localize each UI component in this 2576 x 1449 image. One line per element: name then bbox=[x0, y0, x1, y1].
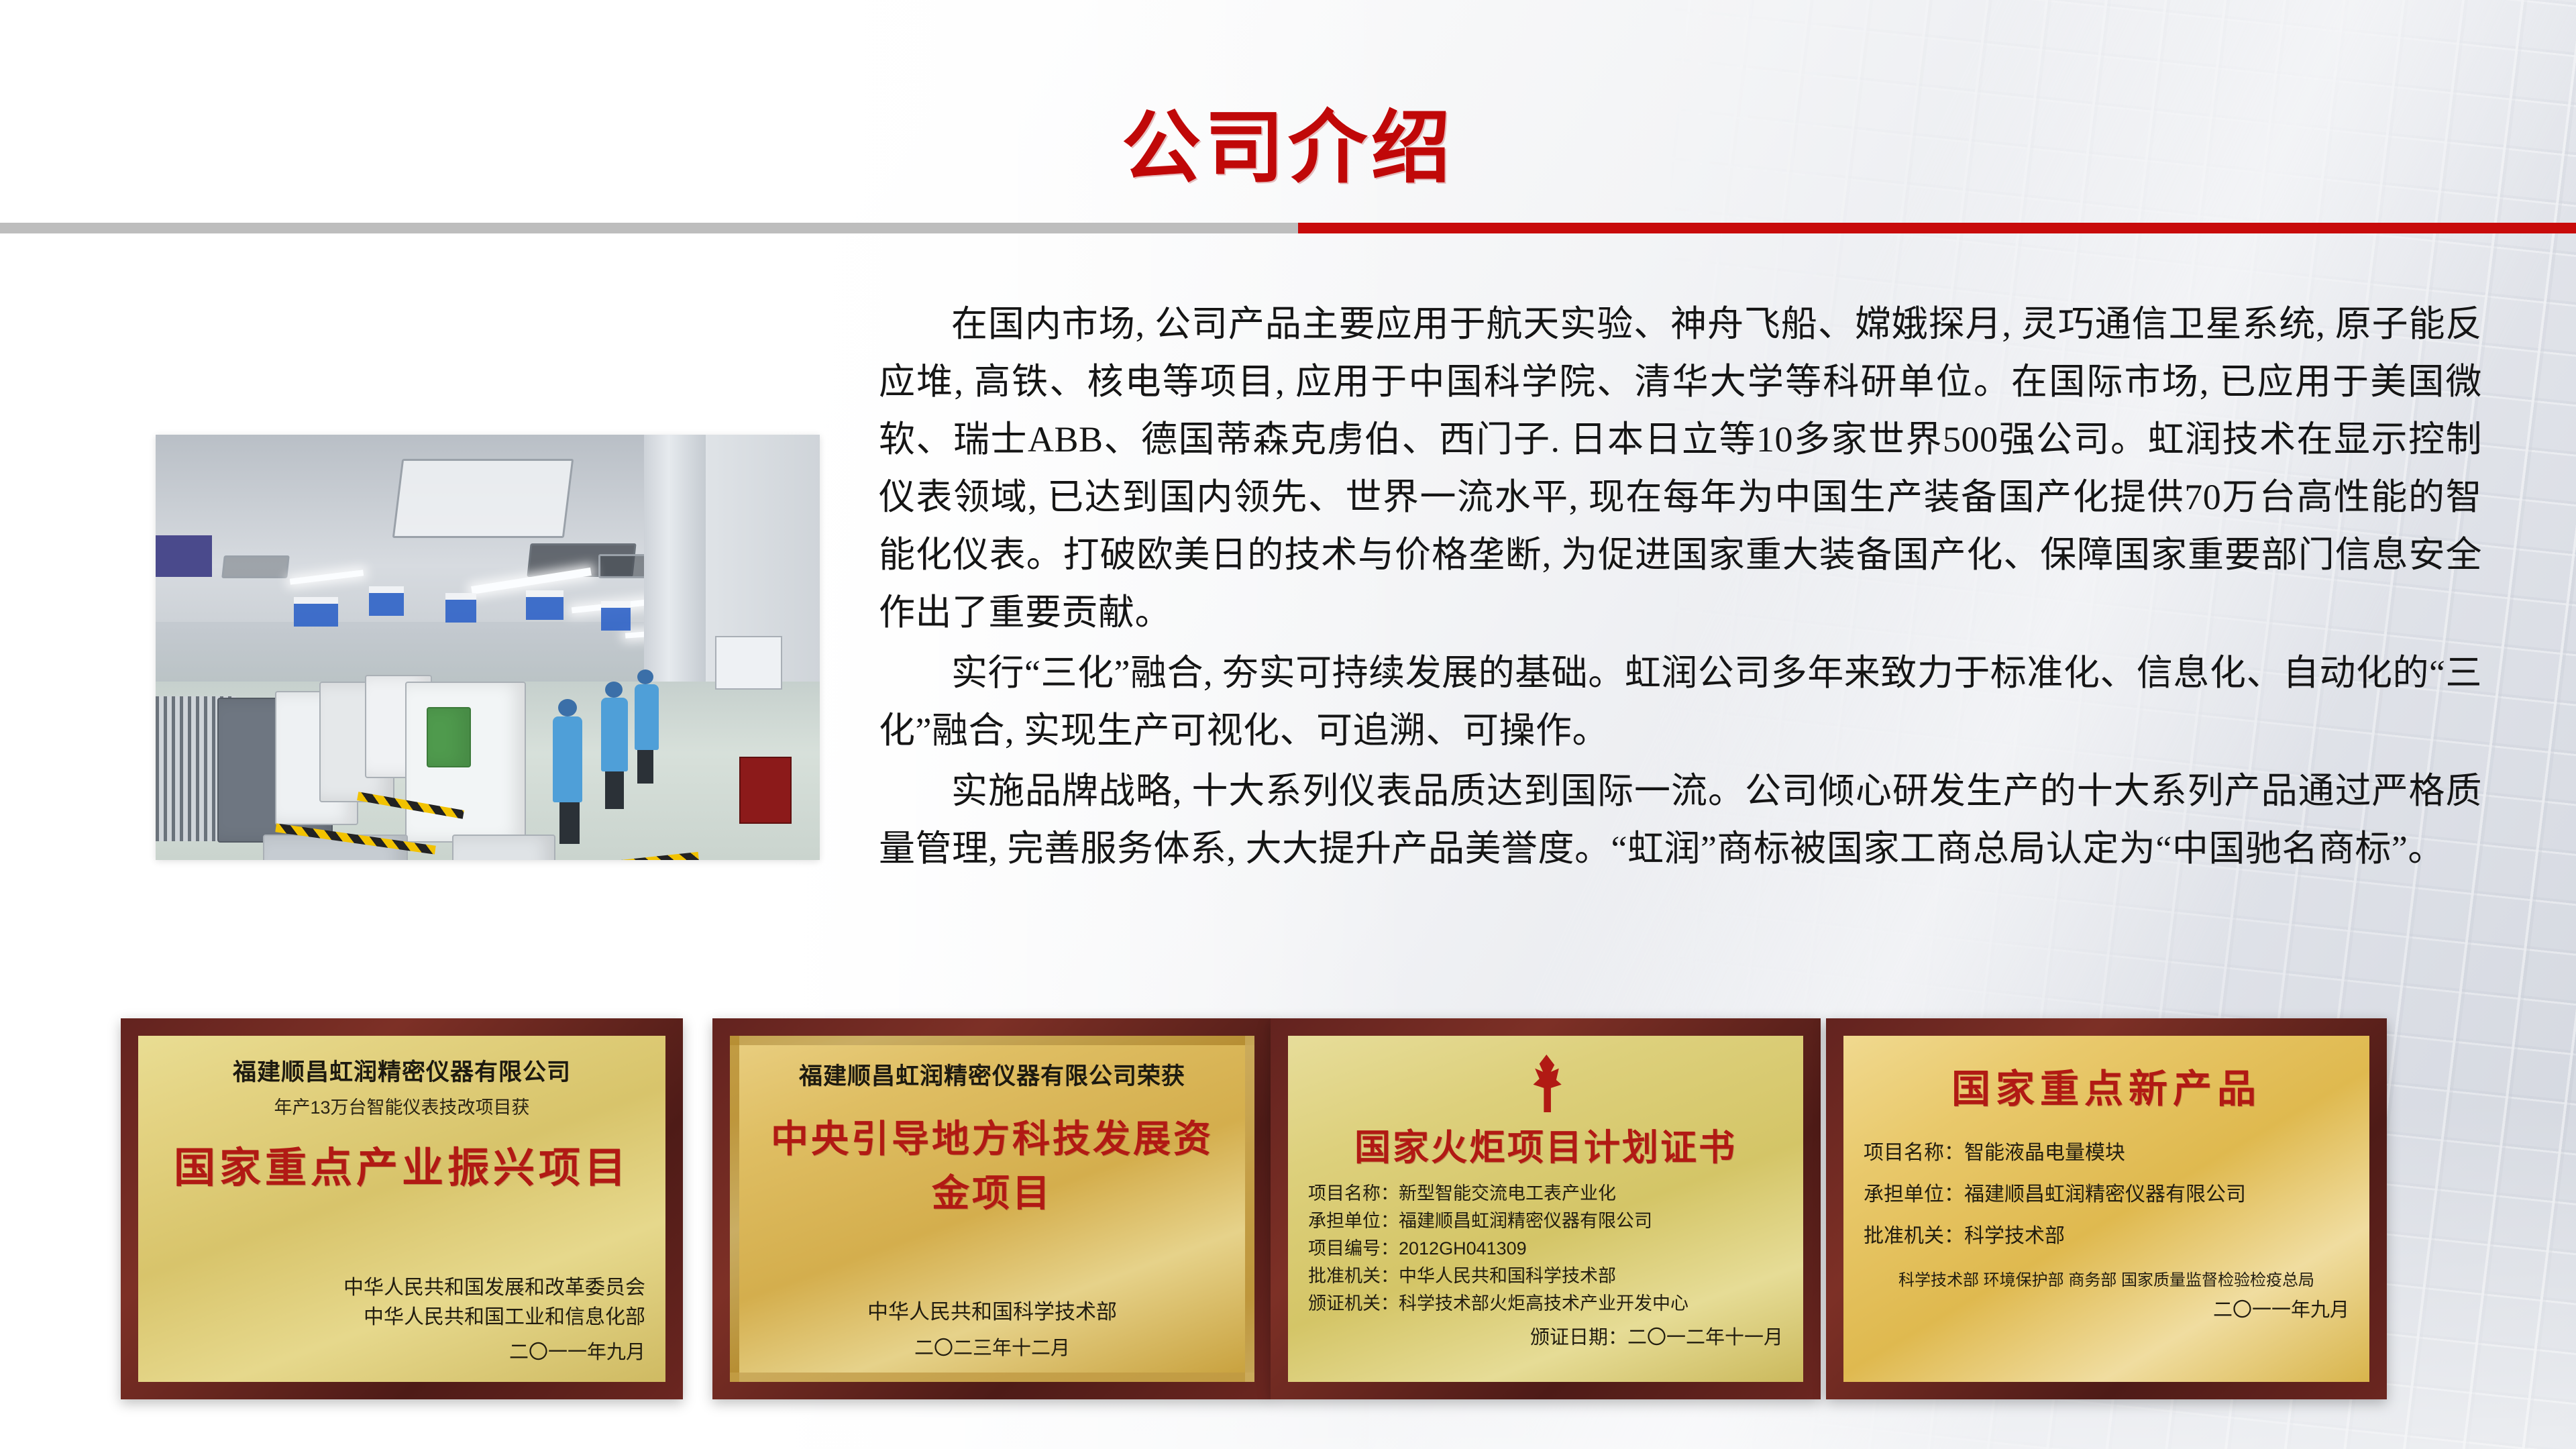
plaque-detail-rows: 项目名称：智能液晶电量模块 承担单位：福建顺昌虹润精密仪器有限公司 批准机关：科… bbox=[1864, 1132, 2349, 1257]
plaque-issuer-line: 中华人民共和国工业和信息化部 bbox=[158, 1303, 645, 1332]
plaque-detail-row: 项目名称：智能液晶电量模块 bbox=[1864, 1132, 2349, 1174]
intro-paragraph-3: 实施品牌战略, 十大系列仪表品质达到国际一流。公司倾心研发生产的十大系列产品通过… bbox=[879, 762, 2482, 877]
photo-worker-cap bbox=[605, 682, 623, 698]
photo-ceiling-filter-panel bbox=[221, 555, 290, 578]
plaque-detail-row: 项目编号：2012GH041309 bbox=[1308, 1235, 1783, 1263]
header-divider-gray-segment bbox=[0, 223, 1298, 233]
plaque-face: 福建顺昌虹润精密仪器有限公司 年产13万台智能仪表技改项目获 国家重点产业振兴项… bbox=[138, 1036, 665, 1382]
plaque-detail-row: 颁证机关：科学技术部火炬高技术产业开发中心 bbox=[1308, 1290, 1783, 1318]
plaque-award-title: 国家重点产业振兴项目 bbox=[158, 1134, 645, 1194]
award-plaque[interactable]: 福建顺昌虹润精密仪器有限公司荣获 中央引导地方科技发展资金项目 中华人民共和国科… bbox=[712, 1018, 1272, 1399]
page-title: 公司介绍 bbox=[0, 83, 2576, 198]
plaque-org: 福建顺昌虹润精密仪器有限公司荣获 bbox=[757, 1057, 1228, 1091]
photo-ceiling-filter-panel bbox=[392, 459, 574, 538]
header-divider bbox=[0, 223, 2576, 233]
plaque-detail-row: 承担单位：福建顺昌虹润精密仪器有限公司 bbox=[1864, 1174, 2349, 1216]
photo-station-sign bbox=[445, 593, 476, 623]
plaque-issuer: 中华人民共和国发展和改革委员会 中华人民共和国工业和信息化部 bbox=[158, 1273, 645, 1332]
photo-station-sign bbox=[294, 597, 338, 627]
photo-worker-legs bbox=[559, 801, 580, 844]
factory-photo bbox=[156, 435, 820, 860]
plaque-subtitle: 年产13万台智能仪表技改项目获 bbox=[158, 1093, 645, 1119]
plaque-award-title: 中央引导地方科技发展资金项目 bbox=[757, 1109, 1228, 1218]
photo-worker-legs bbox=[637, 749, 653, 784]
intro-paragraph-2: 实行“三化”融合, 夯实可持续发展的基础。虹润公司多年来致力于标准化、信息化、自… bbox=[879, 644, 2482, 759]
photo-worker-cap bbox=[637, 669, 653, 684]
torch-icon bbox=[1523, 1055, 1568, 1112]
plaque-org: 福建顺昌虹润精密仪器有限公司 bbox=[158, 1053, 645, 1087]
photo-hanging-banner bbox=[156, 535, 212, 577]
plaque-detail-row: 批准机关：科学技术部 bbox=[1864, 1216, 2349, 1257]
award-plaque-gallery: 福建顺昌虹润精密仪器有限公司 年产13万台智能仪表技改项目获 国家重点产业振兴项… bbox=[0, 1018, 2576, 1407]
plaque-footer-agencies: 科学技术部 环境保护部 商务部 国家质量监督检验检疫总局 bbox=[1864, 1267, 2349, 1290]
photo-station-sign bbox=[601, 601, 631, 631]
photo-worker-cap bbox=[558, 699, 577, 716]
award-plaque[interactable]: 福建顺昌虹润精密仪器有限公司 年产13万台智能仪表技改项目获 国家重点产业振兴项… bbox=[121, 1018, 683, 1399]
plaque-face: 国家火炬项目计划证书 项目名称：新型智能交流电工表产业化 承担单位：福建顺昌虹润… bbox=[1288, 1036, 1803, 1382]
photo-worker bbox=[635, 684, 659, 750]
plaque-detail-row: 项目名称：新型智能交流电工表产业化 bbox=[1308, 1180, 1783, 1207]
plaque-issuer: 中华人民共和国科学技术部 bbox=[757, 1296, 1228, 1328]
plaque-date: 二〇一一年九月 bbox=[1864, 1294, 2349, 1322]
plaque-detail-rows: 项目名称：新型智能交流电工表产业化 承担单位：福建顺昌虹润精密仪器有限公司 项目… bbox=[1308, 1180, 1783, 1318]
header-divider-red-segment bbox=[1298, 223, 2576, 233]
plaque-award-title: 国家重点新产品 bbox=[1864, 1057, 2349, 1114]
photo-red-notice-board bbox=[739, 757, 792, 824]
photo-machine bbox=[452, 835, 555, 860]
plaque-date: 二〇一一年九月 bbox=[158, 1336, 645, 1364]
plaque-date: 颁证日期：二〇一二年十一月 bbox=[1308, 1322, 1783, 1350]
plaque-detail-row: 承担单位：福建顺昌虹润精密仪器有限公司 bbox=[1308, 1207, 1783, 1235]
photo-worker bbox=[601, 698, 628, 771]
plaque-issuer-line: 中华人民共和国科学技术部 bbox=[757, 1296, 1228, 1328]
intro-paragraph-1: 在国内市场, 公司产品主要应用于航天实验、神舟飞船、嫦娥探月, 灵巧通信卫星系统… bbox=[879, 295, 2482, 641]
photo-station-sign bbox=[369, 586, 404, 616]
plaque-detail-row: 批准机关：中华人民共和国科学技术部 bbox=[1308, 1263, 1783, 1290]
slide-root: 公司介绍 bbox=[0, 0, 2576, 1449]
photo-worker-legs bbox=[605, 770, 624, 809]
plaque-award-title: 国家火炬项目计划证书 bbox=[1308, 1118, 1783, 1171]
photo-worker bbox=[553, 716, 582, 802]
award-plaque[interactable]: 国家火炬项目计划证书 项目名称：新型智能交流电工表产业化 承担单位：福建顺昌虹润… bbox=[1271, 1018, 1821, 1399]
award-plaque[interactable]: 国家重点新产品 项目名称：智能液晶电量模块 承担单位：福建顺昌虹润精密仪器有限公… bbox=[1826, 1018, 2387, 1399]
photo-machine-green-cover bbox=[427, 707, 471, 767]
photo-station-sign bbox=[526, 590, 563, 620]
plaque-face: 国家重点新产品 项目名称：智能液晶电量模块 承担单位：福建顺昌虹润精密仪器有限公… bbox=[1843, 1036, 2369, 1382]
slide-header: 公司介绍 bbox=[0, 0, 2576, 228]
company-intro-text: 在国内市场, 公司产品主要应用于航天实验、神舟飞船、嫦娥探月, 灵巧通信卫星系统… bbox=[879, 295, 2482, 880]
plaque-issuer-line: 中华人民共和国发展和改革委员会 bbox=[158, 1273, 645, 1303]
photo-wall-panel bbox=[715, 636, 782, 690]
plaque-face: 福建顺昌虹润精密仪器有限公司荣获 中央引导地方科技发展资金项目 中华人民共和国科… bbox=[730, 1036, 1254, 1382]
plaque-date: 二〇二三年十二月 bbox=[757, 1332, 1228, 1360]
